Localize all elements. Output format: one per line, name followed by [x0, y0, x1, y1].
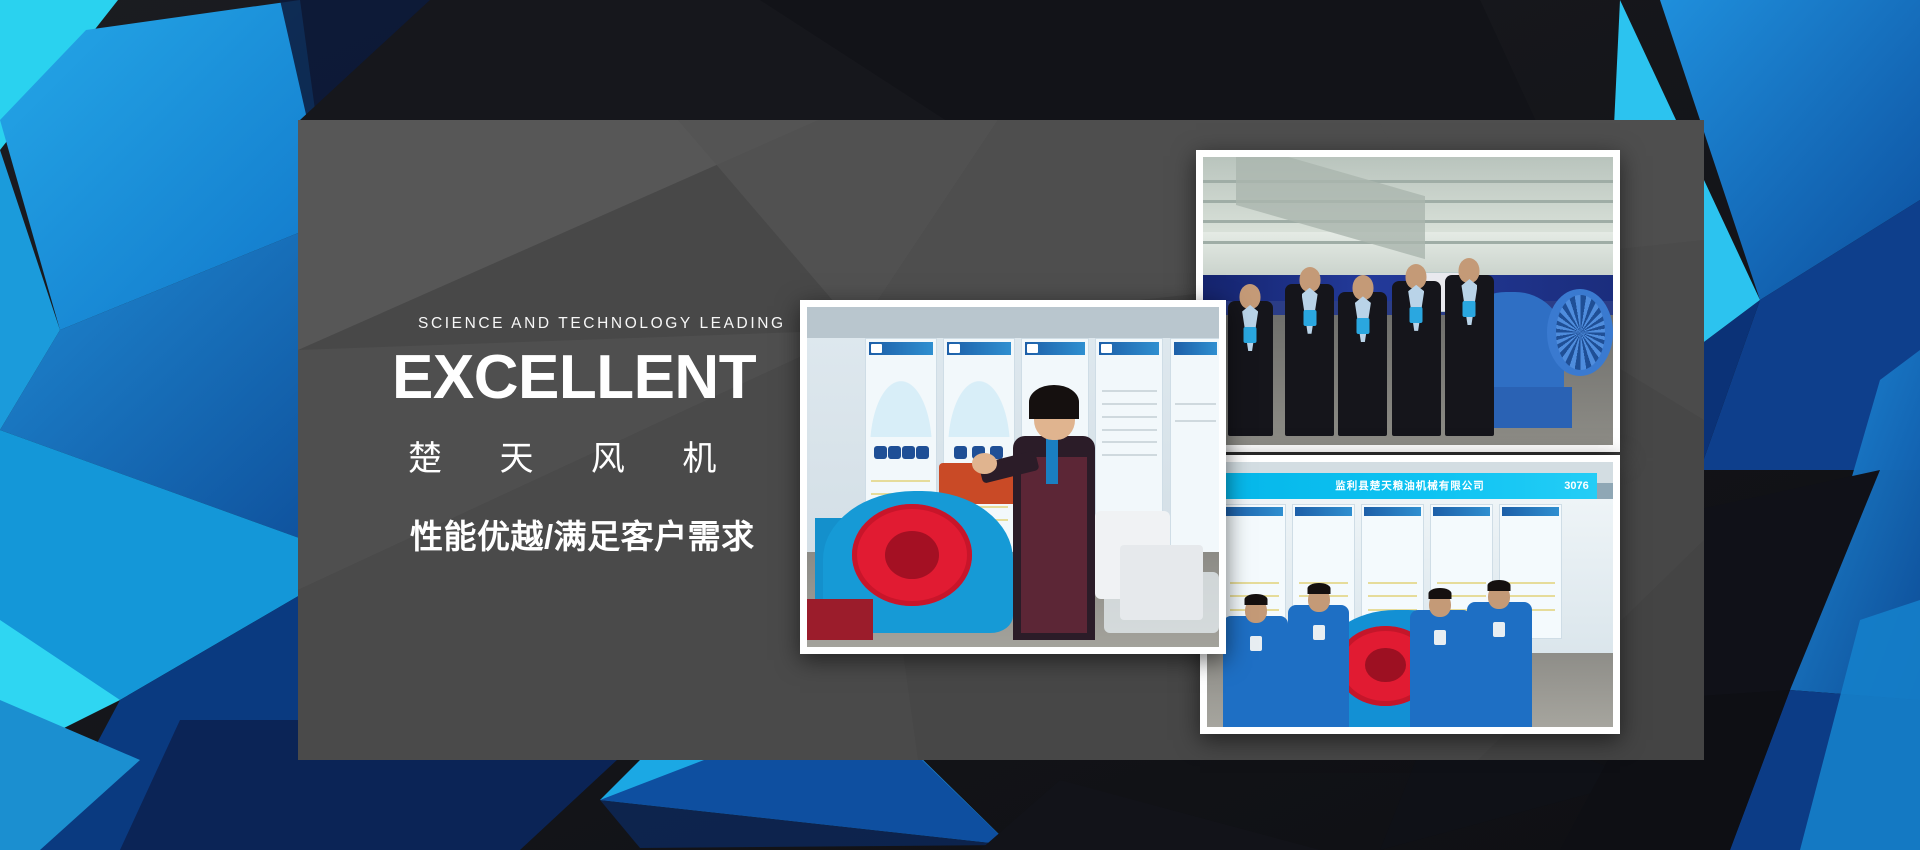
photo-image-presenter: [807, 307, 1219, 647]
person: [1410, 610, 1471, 727]
booth-banner: 监利县楚天粮油机械有限公司: [1223, 473, 1597, 500]
photo-frame-team-suits[interactable]: [1196, 150, 1620, 452]
eyebrow-text: SCIENCE AND TECHNOLOGY LEADING: [418, 315, 822, 333]
photo-image-staff-blue: 监利县楚天粮油机械有限公司 3076: [1207, 462, 1613, 727]
person: [1228, 301, 1273, 436]
person: [1467, 602, 1532, 727]
person: [1288, 605, 1349, 727]
person: [1392, 281, 1441, 437]
promotional-banner: SCIENCE AND TECHNOLOGY LEADING EXCELLENT…: [0, 0, 1920, 850]
photo-image-team-suits: [1203, 157, 1613, 445]
booth-number: 3076: [1564, 473, 1596, 500]
tagline-chinese: 性能优越/满足客户需求: [410, 510, 822, 558]
person: [1445, 275, 1494, 436]
person: [1285, 284, 1334, 437]
page-title: EXCELLENT: [392, 347, 822, 409]
headline-text-block: SCIENCE AND TECHNOLOGY LEADING EXCELLENT…: [392, 315, 822, 558]
person: [1338, 292, 1387, 436]
booth-banner-text: 监利县楚天粮油机械有限公司: [1335, 478, 1485, 493]
photo-frame-staff-blue[interactable]: 监利县楚天粮油机械有限公司 3076: [1200, 455, 1620, 734]
photo-frame-presenter[interactable]: [800, 300, 1226, 654]
brand-name-chinese: 楚 天 风 机: [408, 431, 822, 480]
person: [1223, 616, 1288, 727]
